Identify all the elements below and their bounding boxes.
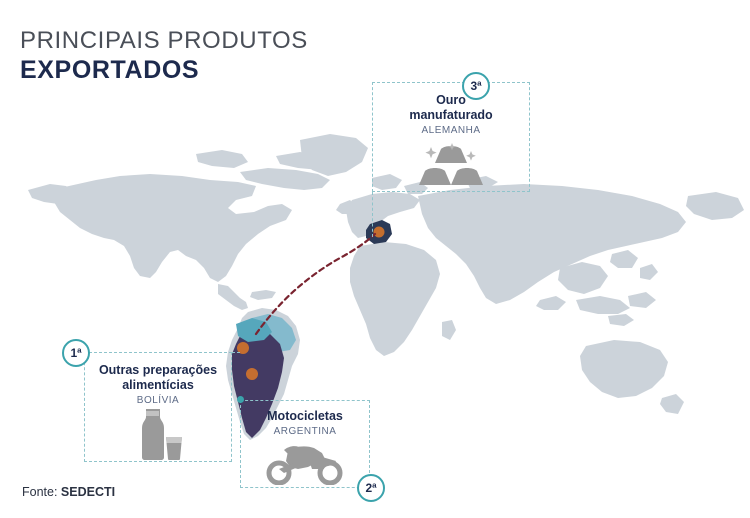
- rank-badge-3[interactable]: 3ª: [462, 72, 490, 100]
- milk-bottle-icon: [85, 405, 231, 461]
- map-marker-alemanha: [374, 227, 385, 238]
- callout-ouro-country: ALEMANHA: [373, 125, 529, 136]
- source-name: SEDECTI: [61, 485, 115, 499]
- callout-outras-text: Outras preparações alimentícias BOLÍVIA: [85, 363, 231, 406]
- rank-badge-1[interactable]: 1ª: [62, 339, 90, 367]
- callout-outras-product-line1: Outras preparações: [85, 363, 231, 378]
- callout-ouro-product-line2: manufaturado: [373, 108, 529, 123]
- gold-bars-icon: [373, 139, 529, 189]
- export-products-infographic: PRINCIPAIS PRODUTOS EXPORTADOS: [0, 0, 750, 518]
- callout-ouro-product-line1: Ouro: [373, 93, 529, 108]
- leader-line-alemanha: [372, 192, 373, 237]
- motorcycle-icon: [241, 439, 369, 485]
- source-label: Fonte:: [22, 485, 57, 499]
- callout-moto-country: ARGENTINA: [241, 426, 369, 437]
- callout-ouro-manufaturado[interactable]: Ouro manufaturado ALEMANHA: [372, 82, 530, 192]
- callout-outras-product-line2: alimentícias: [85, 378, 231, 393]
- source-footer: Fonte: SEDECTI: [22, 485, 115, 499]
- leader-dot-argentina: [237, 396, 244, 403]
- callout-ouro-text: Ouro manufaturado ALEMANHA: [373, 93, 529, 136]
- callout-outras-preparacoes[interactable]: Outras preparações alimentícias BOLÍVIA: [84, 352, 232, 462]
- callout-moto-product-line1: Motocicletas: [241, 409, 369, 424]
- callout-motocicletas[interactable]: Motocicletas ARGENTINA: [240, 400, 370, 488]
- leader-line-bolivia: [232, 352, 240, 353]
- callout-moto-text: Motocicletas ARGENTINA: [241, 409, 369, 437]
- rank-badge-2[interactable]: 2ª: [357, 474, 385, 502]
- map-marker-argentina: [246, 368, 258, 380]
